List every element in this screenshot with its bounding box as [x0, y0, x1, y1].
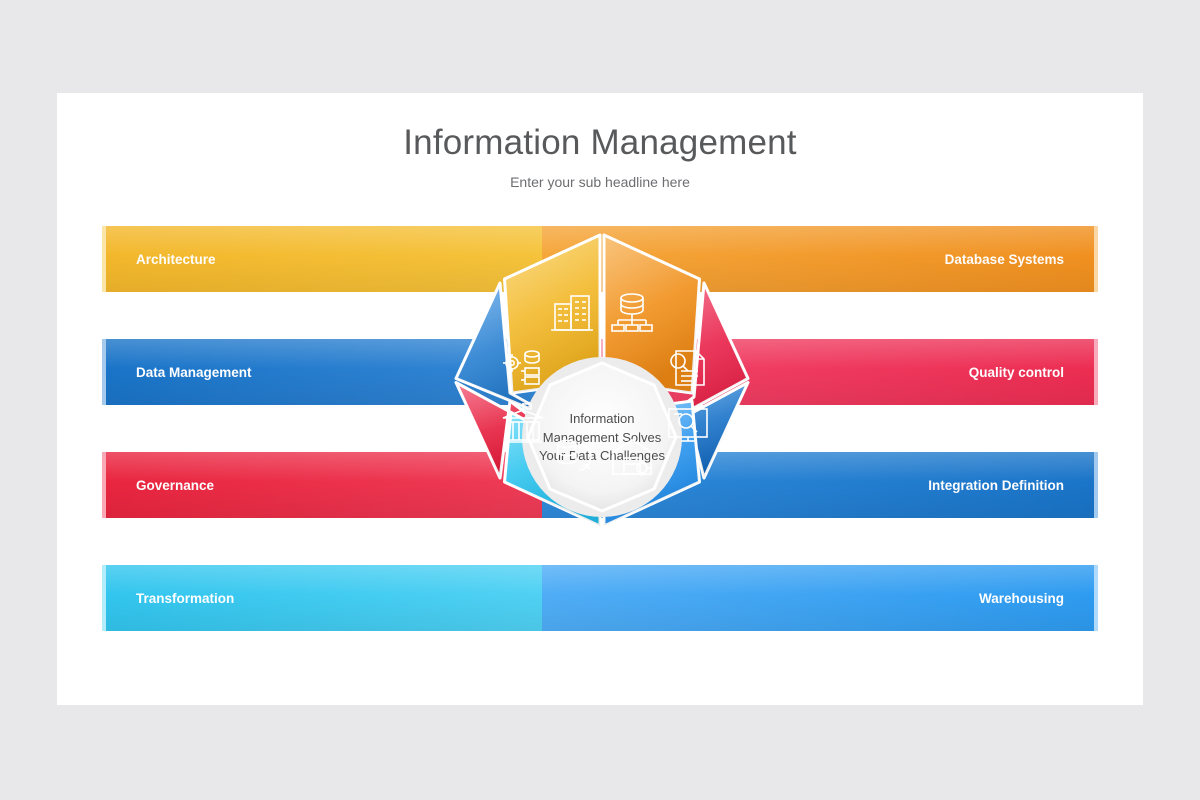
bar-label: Data Management	[136, 365, 252, 380]
buildings-icon	[547, 286, 599, 338]
document-search-icon	[662, 341, 714, 393]
octagon-wheel: Information Management Solves Your Data …	[382, 213, 822, 661]
page-subtitle: Enter your sub headline here	[57, 174, 1143, 190]
bar-label: Governance	[136, 478, 214, 493]
bar-label: Warehousing	[979, 591, 1064, 606]
bar-label: Integration Definition	[928, 478, 1064, 493]
database-sync-icon	[547, 430, 599, 482]
bar-label: Architecture	[136, 252, 216, 267]
warehouse-gear-icon	[606, 430, 658, 482]
courthouse-icon	[497, 398, 549, 450]
bar-label: Transformation	[136, 591, 234, 606]
bar-label: Quality control	[969, 365, 1064, 380]
screen-search-icon	[662, 398, 714, 450]
bar-label: Database Systems	[945, 252, 1064, 267]
slide-canvas: Information Management Enter your sub he…	[57, 93, 1143, 705]
gear-database-icon	[497, 341, 549, 393]
server-network-icon	[606, 286, 658, 338]
page-title: Information Management	[57, 123, 1143, 163]
